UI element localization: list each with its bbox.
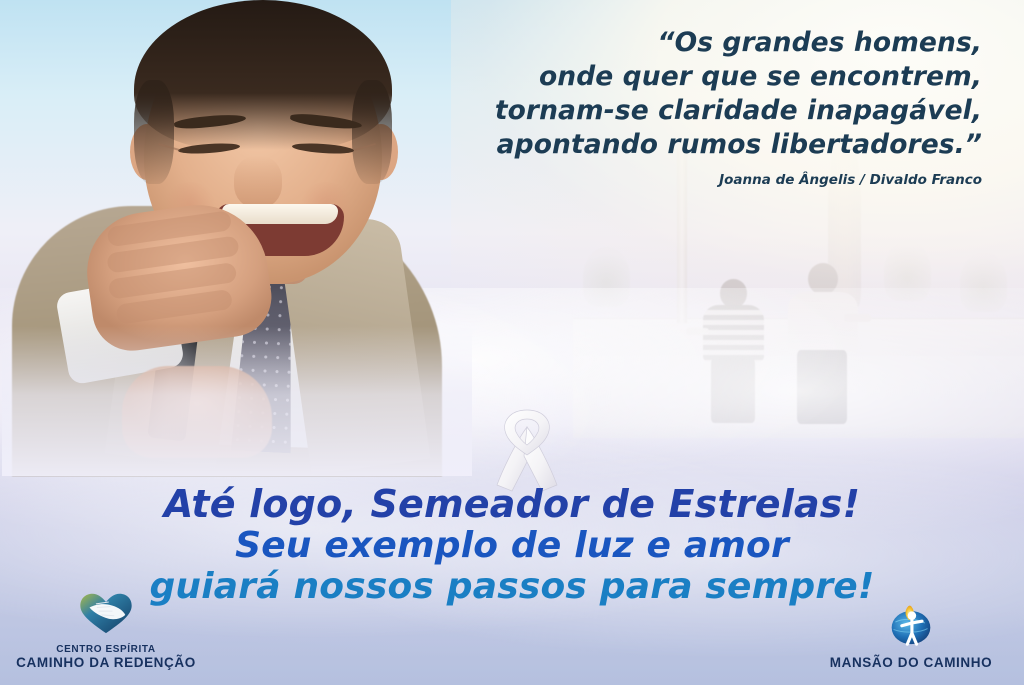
logo-centro-espirita-caminho-da-redencao: CENTRO ESPÍRITA CAMINHO DA REDENÇÃO (8, 591, 204, 671)
logo-left-line-1: CENTRO ESPÍRITA (8, 644, 204, 656)
heart-hand-icon (8, 591, 204, 640)
memorial-headline: Até logo, Semeador de Estrelas! Seu exem… (0, 484, 1024, 607)
portrait-nose (234, 156, 282, 208)
logo-right-text: MANSÃO DO CAMINHO (808, 655, 1014, 671)
logo-right-line-1: MANSÃO DO CAMINHO (808, 655, 1014, 671)
quote-line-3: tornam-se claridade inapagável, (342, 94, 982, 128)
quote-line-2: onde quer que se encontrem, (342, 60, 982, 94)
logo-left-line-2: CAMINHO DA REDENÇÃO (8, 655, 204, 671)
headline-line-1: Até logo, Semeador de Estrelas! (0, 484, 1024, 524)
globe-figure-icon (808, 600, 1014, 651)
portrait-hair-left (134, 80, 174, 184)
headline-line-2: Seu exemplo de luz e amor (0, 527, 1024, 565)
logo-left-text: CENTRO ESPÍRITA CAMINHO DA REDENÇÃO (8, 644, 204, 671)
memorial-quote: “Os grandes homens, onde quer que se enc… (342, 26, 982, 162)
portrait-fade-to-clouds (2, 326, 472, 476)
mourning-ribbon-icon (488, 406, 566, 492)
quote-line-4: apontando rumos libertadores.” (342, 128, 982, 162)
memorial-poster: “Os grandes homens, onde quer que se enc… (0, 0, 1024, 685)
quote-line-1: “Os grandes homens, (342, 26, 982, 60)
logo-mansao-do-caminho: MANSÃO DO CAMINHO (808, 600, 1014, 671)
quote-attribution: Joanna de Ângelis / Divaldo Franco (342, 172, 982, 188)
